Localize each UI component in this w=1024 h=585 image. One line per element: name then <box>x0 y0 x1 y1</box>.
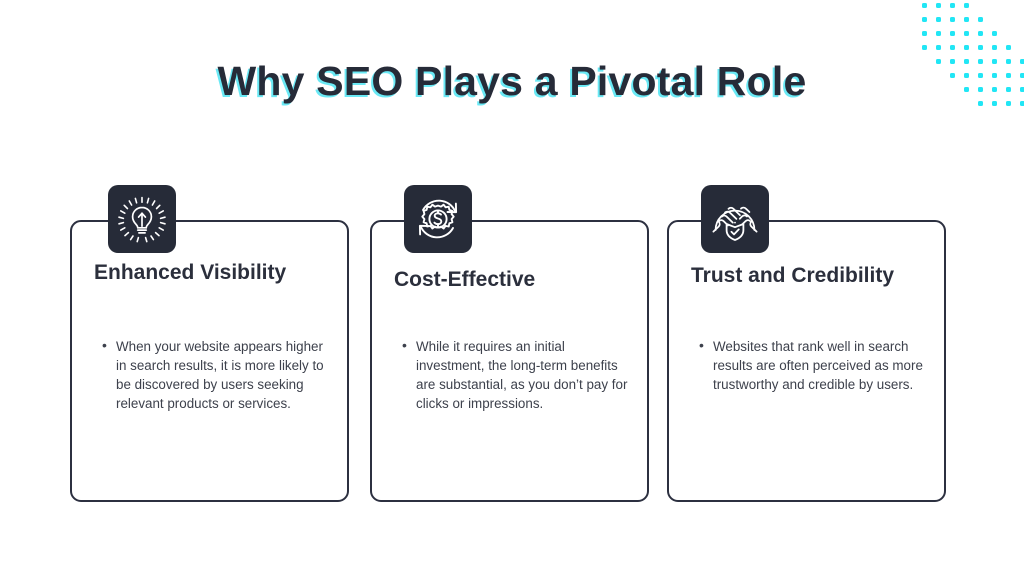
card-heading: Cost-Effective <box>394 263 633 297</box>
card-heading: Trust and Credibility <box>691 259 930 293</box>
card-bullet-list: While it requires an initial investment,… <box>394 337 633 413</box>
card-bullet-list: Websites that rank well in search result… <box>691 337 930 394</box>
card-heading: Enhanced Visibility <box>94 256 333 290</box>
handshake-shield-check-icon <box>701 185 769 253</box>
slide-canvas: Why SEO Plays a Pivotal Role Enhanced Vi… <box>0 0 1024 585</box>
card-bullet-list: When your website appears higher in sear… <box>94 337 333 413</box>
list-item: Websites that rank well in search result… <box>713 337 930 394</box>
card-cost-effective: Cost-Effective While it requires an init… <box>370 220 649 502</box>
cards-row: Enhanced Visibility When your website ap… <box>70 220 946 502</box>
gear-dollar-refresh-icon <box>404 185 472 253</box>
lightbulb-arrow-up-icon <box>108 185 176 253</box>
card-trust-and-credibility: Trust and Credibility Websites that rank… <box>667 220 946 502</box>
card-enhanced-visibility: Enhanced Visibility When your website ap… <box>70 220 349 502</box>
page-title: Why SEO Plays a Pivotal Role <box>0 58 1024 105</box>
list-item: While it requires an initial investment,… <box>416 337 633 413</box>
list-item: When your website appears higher in sear… <box>116 337 333 413</box>
